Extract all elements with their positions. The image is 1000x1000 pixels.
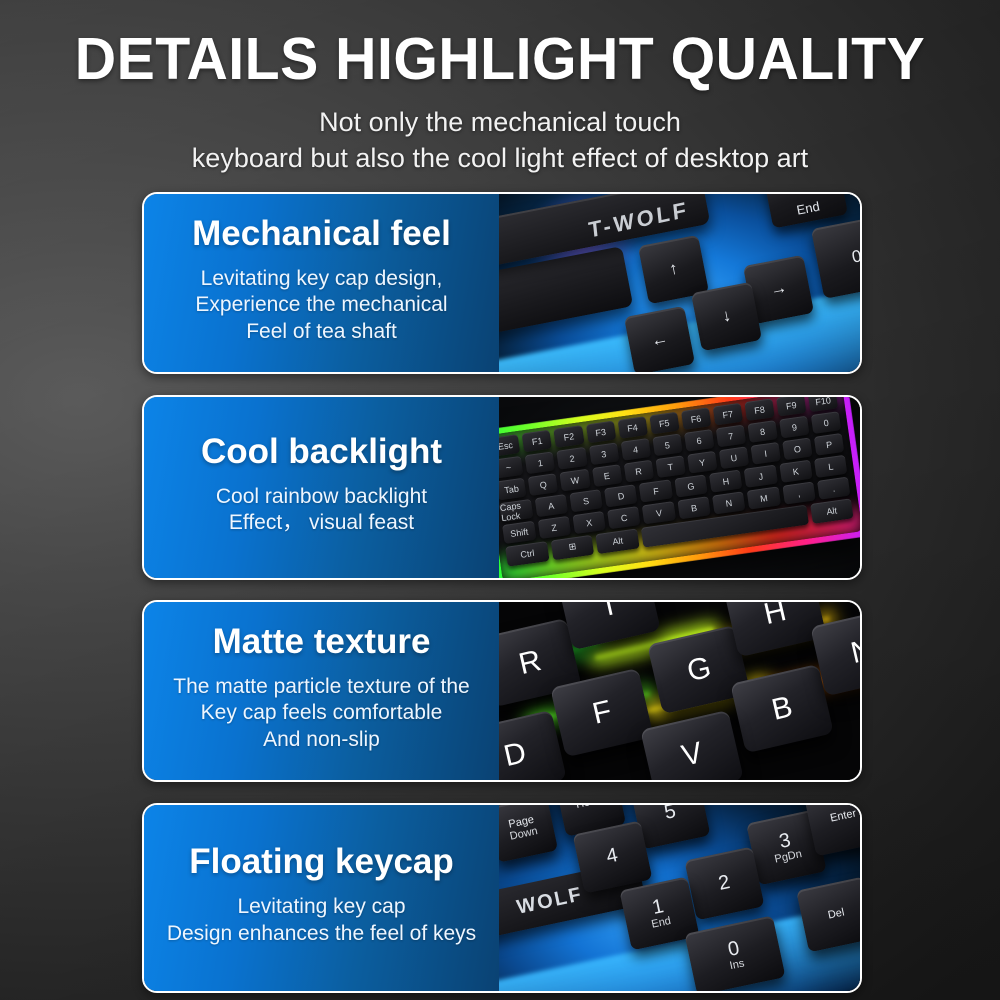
- product-detail-page: DETAILS HIGHLIGHT QUALITY Not only the m…: [0, 0, 1000, 1000]
- keycap: 1: [525, 452, 555, 475]
- key-1-sub: End: [651, 916, 673, 931]
- keycap: S: [569, 490, 603, 513]
- feature-body-line-1: Levitating key cap design,: [195, 266, 447, 293]
- feature-body: Cool rainbow backlight Effect， visual fe…: [216, 484, 427, 538]
- feature-body-line-3: And non-slip: [173, 727, 469, 754]
- feature-photo-floating-keycap: WOLF Page Down Home 5 4 3 PgDn 2 1 End: [499, 805, 860, 991]
- keycap: F2: [553, 425, 583, 448]
- keycap: N: [712, 492, 746, 515]
- keycap: U: [718, 447, 748, 470]
- feature-panel-matte-texture[interactable]: Matte texture The matte particle texture…: [142, 600, 862, 782]
- keycap: ,: [782, 482, 816, 505]
- keycap: 9: [779, 416, 809, 439]
- keycap: I: [750, 442, 780, 465]
- feature-panel-cool-backlight[interactable]: Cool backlight Cool rainbow backlight Ef…: [142, 395, 862, 580]
- keycap: F7: [712, 403, 742, 426]
- keycap: 7: [715, 425, 745, 448]
- key-delete: Del: [796, 877, 860, 953]
- feature-heading: Matte texture: [213, 624, 431, 661]
- feature-photo-matte-texture: R T G H D F B N V: [499, 602, 860, 780]
- subtitle-line-2: keyboard but also the cool light effect …: [0, 141, 1000, 177]
- keycap: C: [607, 507, 641, 530]
- keycap: 5: [652, 434, 682, 457]
- keycap: .: [817, 477, 851, 500]
- feature-body-line-1: The matte particle texture of the: [173, 674, 469, 701]
- feature-body-line-2: Experience the mechanical: [195, 292, 447, 319]
- feature-body-line-3: Feel of tea shaft: [195, 319, 447, 346]
- keycap: X: [572, 511, 606, 534]
- keycap: L: [813, 455, 847, 478]
- feature-body-line-1: Levitating key cap: [167, 894, 476, 921]
- keycap: F10: [807, 397, 837, 412]
- feature-heading: Cool backlight: [201, 434, 442, 471]
- key-2: 2: [685, 847, 765, 921]
- keyboard-photo-blue-arrows: T-WOLF End 0 ↑ → ↓ ←: [499, 194, 860, 372]
- feature-body-line-2: Effect， visual feast: [216, 510, 427, 537]
- keycap: Q: [528, 474, 558, 497]
- keycap: Esc: [499, 434, 520, 457]
- keycap: Caps Lock: [499, 499, 533, 522]
- key-0-sub: Ins: [729, 959, 746, 973]
- key-0-ins: 0 Ins: [685, 915, 786, 991]
- keycap: F1: [521, 430, 551, 453]
- keyboard-body: EscF1F2F3F4F5F6F7F8F9F10 ~1234567890 Tab…: [499, 397, 860, 578]
- key-arrow-left: ←: [624, 306, 695, 372]
- keycap: 8: [747, 420, 777, 443]
- keycap: J: [744, 465, 778, 488]
- feature-body: Levitating key cap Design enhances the f…: [167, 894, 476, 948]
- keycap: E: [591, 465, 621, 488]
- keycap: T: [655, 456, 685, 479]
- keycap: ~: [499, 456, 523, 479]
- feature-body: The matte particle texture of the Key ca…: [173, 674, 469, 755]
- page-subtitle: Not only the mechanical touch keyboard b…: [0, 105, 1000, 176]
- feature-photo-cool-backlight: EscF1F2F3F4F5F6F7F8F9F10 ~1234567890 Tab…: [499, 397, 860, 578]
- feature-heading: Mechanical feel: [192, 216, 451, 253]
- keyboard-photo-rainbow: EscF1F2F3F4F5F6F7F8F9F10 ~1234567890 Tab…: [499, 397, 860, 578]
- keycap: F9: [776, 397, 806, 417]
- keycap: 6: [683, 429, 713, 452]
- numpad-photo-blue: WOLF Page Down Home 5 4 3 PgDn 2 1 End: [499, 805, 860, 991]
- keycap: 4: [620, 438, 650, 461]
- keycap: F6: [680, 407, 710, 430]
- keycap: D: [604, 485, 638, 508]
- feature-body-line-1: Cool rainbow backlight: [216, 484, 427, 511]
- keycap: F8: [744, 399, 774, 422]
- key-page-down-sub: Down: [509, 826, 539, 843]
- keycap: 3: [588, 443, 618, 466]
- key-page-down: Page Down: [499, 805, 558, 863]
- keycap: M: [747, 487, 781, 510]
- keycap-v: V: [640, 710, 744, 780]
- feature-panel-floating-keycap[interactable]: Floating keycap Levitating key cap Desig…: [142, 803, 862, 993]
- keycap: B: [677, 497, 711, 520]
- keycap: O: [782, 438, 812, 461]
- keycap: F3: [585, 421, 615, 444]
- feature-body-line-2: Design enhances the feel of keys: [167, 921, 476, 948]
- keycap: F: [639, 480, 673, 503]
- keycap: A: [534, 494, 568, 517]
- feature-text-block: Floating keycap Levitating key cap Desig…: [144, 805, 499, 991]
- keycap: Tab: [499, 478, 526, 501]
- keycap: H: [709, 470, 743, 493]
- keycap: 2: [556, 447, 586, 470]
- keycap: W: [559, 469, 589, 492]
- feature-body-line-2: Key cap feels comfortable: [173, 700, 469, 727]
- keycap: R: [623, 460, 653, 483]
- keycap: F4: [617, 416, 647, 439]
- keycap: 0: [810, 411, 840, 434]
- key-arrow-down: ↓: [691, 281, 762, 350]
- keycap: K: [779, 460, 813, 483]
- keycap: Shift: [502, 521, 536, 544]
- feature-body: Levitating key cap design, Experience th…: [195, 266, 447, 347]
- keycap-macro-photo: R T G H D F B N V: [499, 602, 860, 780]
- feature-text-block: Matte texture The matte particle texture…: [144, 602, 499, 780]
- feature-text-block: Mechanical feel Levitating key cap desig…: [144, 194, 499, 372]
- keycap: P: [813, 433, 843, 456]
- page-header: DETAILS HIGHLIGHT QUALITY Not only the m…: [0, 0, 1000, 176]
- keycap: G: [674, 475, 708, 498]
- page-title: DETAILS HIGHLIGHT QUALITY: [15, 0, 985, 89]
- brand-logo-text: T-WOLF: [588, 196, 691, 243]
- key-3-sub: PgDn: [773, 850, 802, 867]
- keycap: F5: [649, 412, 679, 435]
- feature-text-block: Cool backlight Cool rainbow backlight Ef…: [144, 397, 499, 578]
- subtitle-line-1: Not only the mechanical touch: [0, 105, 1000, 141]
- feature-panel-mechanical-feel[interactable]: Mechanical feel Levitating key cap desig…: [142, 192, 862, 374]
- keycap: Y: [686, 451, 716, 474]
- feature-photo-mechanical-feel: T-WOLF End 0 ↑ → ↓ ←: [499, 194, 860, 372]
- keycap: V: [642, 502, 676, 525]
- key-zero: 0: [811, 214, 860, 299]
- feature-heading: Floating keycap: [189, 844, 454, 881]
- keycap: Z: [537, 516, 571, 539]
